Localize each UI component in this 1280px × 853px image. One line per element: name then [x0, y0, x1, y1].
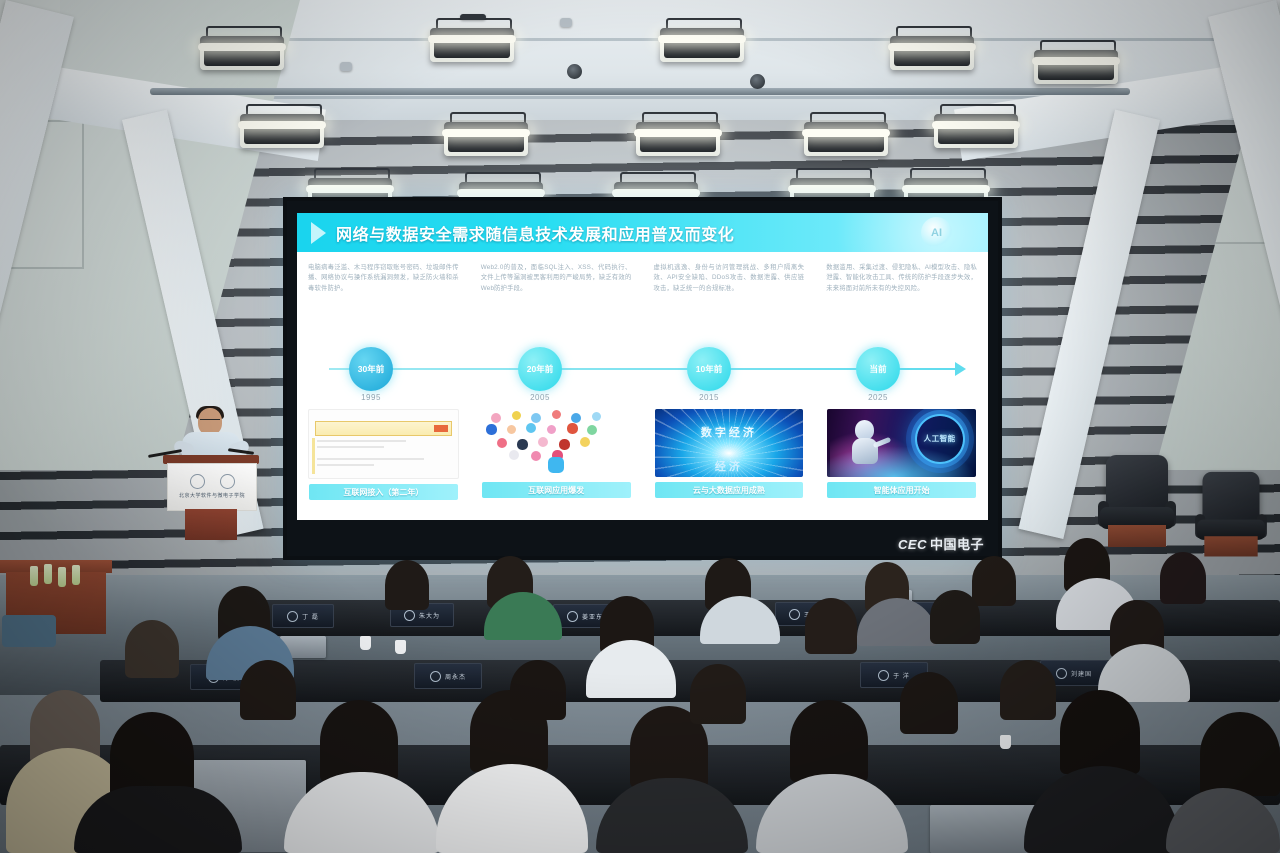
stage-light	[426, 18, 518, 64]
audience-member	[790, 700, 868, 782]
desk-nameplate: 周永杰	[414, 663, 482, 689]
nameplate-text: 朱大为	[419, 611, 440, 620]
nameplate-text: 刘建国	[1071, 669, 1092, 678]
emblem-icon	[1056, 668, 1067, 679]
timeline-node: 30年前	[349, 347, 393, 391]
timeline-year: 2015	[687, 393, 731, 402]
text-column: 虚拟机逃逸、身份与访问管理挑战、多租户隔离失效、API安全缺陷、DDoS攻击、数…	[643, 263, 816, 325]
audience-member	[385, 560, 429, 610]
era-panel: 人工智能 智能体应用开始	[815, 409, 988, 509]
emblem-icon	[404, 610, 415, 621]
thumb-title-top: 数字经济	[655, 424, 804, 440]
nameplate-text: 丁 磊	[302, 612, 319, 621]
thumbnail-old-webpage	[308, 409, 459, 479]
paper-cup	[1000, 735, 1011, 749]
thumbnail-app-icon-cloud	[482, 409, 631, 477]
text-column: 数据滥用、采集过渡、侵犯隐私、AI模型攻击、隐私泄露、智能化攻击工具、传统的防护…	[815, 263, 988, 325]
audience-member	[930, 590, 980, 644]
era-panel: 互联网应用爆发	[470, 409, 643, 509]
screen-surface: 网络与数据安全需求随信息技术发展和应用普及而变化 AI 电脑病毒泛滥、木马程序窃…	[287, 201, 998, 556]
audience-member	[1000, 660, 1056, 720]
water-bottle	[44, 564, 52, 584]
timeline-year: 1995	[349, 393, 393, 402]
slide-title: 网络与数据安全需求随信息技术发展和应用普及而变化	[336, 221, 734, 245]
panel-caption: 云与大数据应用成熟	[655, 482, 804, 498]
audience-member	[1060, 690, 1140, 774]
ceiling-camera-icon	[750, 74, 765, 89]
podium: 北京大学软件与微电子学院	[163, 455, 259, 540]
timeline-arrow-icon	[955, 362, 966, 376]
paper-cup	[395, 640, 406, 654]
stage-light	[632, 112, 724, 158]
audience-member	[1160, 552, 1206, 604]
paper-cup	[360, 636, 371, 650]
led-display-screen[interactable]: 网络与数据安全需求随信息技术发展和应用普及而变化 AI 电脑病毒泛滥、木马程序窃…	[283, 197, 1002, 560]
smoke-detector-icon	[340, 62, 352, 71]
podium-front-panel: 北京大学软件与微电子学院	[167, 463, 257, 511]
column-paragraph: 数据滥用、采集过渡、侵犯隐私、AI模型攻击、隐私泄露、智能化攻击工具、传统的防护…	[826, 263, 977, 294]
audience-member	[510, 660, 566, 720]
desk-nameplate: 丁 磊	[272, 604, 334, 628]
screenshot-root: 网络与数据安全需求随信息技术发展和应用普及而变化 AI 电脑病毒泛滥、木马程序窃…	[0, 0, 1280, 853]
emblem-icon	[789, 609, 800, 620]
column-paragraph: 虚拟机逃逸、身份与访问管理挑战、多租户隔离失效、API安全缺陷、DDoS攻击、数…	[654, 263, 805, 294]
timeline-node: 10年前	[687, 347, 731, 391]
play-triangle-icon	[311, 222, 326, 244]
stage-light	[236, 104, 328, 150]
timeline-node: 20年前	[518, 347, 562, 391]
panel-caption: 智能体应用开始	[827, 482, 976, 498]
smoke-detector-icon	[560, 18, 572, 27]
glasses-icon	[200, 419, 220, 424]
audience-member	[125, 620, 179, 678]
side-chair	[2, 615, 56, 647]
slide-title-bar: 网络与数据安全需求随信息技术发展和应用普及而变化 AI	[297, 213, 988, 252]
column-paragraph: 电脑病毒泛滥、木马程序窃取账号密码、垃圾邮件传播、网络协议与操作系统漏洞频发，缺…	[308, 263, 459, 294]
thumbnail-ai-robot: 人工智能	[827, 409, 976, 477]
audience-member	[805, 598, 857, 654]
stage-light	[930, 104, 1022, 150]
university-emblem-icon	[220, 474, 235, 489]
audience-member	[900, 672, 958, 734]
emblem-icon	[878, 670, 889, 681]
slide-text-columns: 电脑病毒泛滥、木马程序窃取账号密码、垃圾邮件传播、网络协议与操作系统漏洞频发，缺…	[297, 263, 988, 325]
ceiling-camera-icon	[567, 64, 582, 79]
audience-member	[690, 664, 746, 724]
timeline-node: 当前	[856, 347, 900, 391]
stage-light	[440, 112, 532, 158]
column-paragraph: Web2.0的普及，面临SQL注入、XSS、代码执行、文件上传等漏洞被黑客利用的…	[481, 263, 632, 294]
nameplate-text: 周永杰	[445, 672, 466, 681]
thumbnail-digital-economy: 数字经济 经济	[655, 409, 804, 477]
timeline: 30年前 20年前 10年前 当前 1995 2005 2015 2025	[297, 341, 988, 399]
stage-light	[800, 112, 892, 158]
water-bottle	[72, 565, 80, 585]
app-store-icon	[548, 457, 564, 473]
lighting-truss	[150, 88, 1130, 95]
stage-light	[656, 18, 748, 64]
era-panel: 数字经济 经济 云与大数据应用成熟	[643, 409, 816, 509]
cec-logo-en: CEC	[898, 537, 927, 552]
ai-badge-icon: AI	[921, 217, 952, 248]
ceiling-rail	[460, 14, 486, 20]
text-column: 电脑病毒泛滥、木马程序窃取账号密码、垃圾邮件传播、网络协议与操作系统漏洞频发，缺…	[297, 263, 470, 325]
audience-member	[240, 660, 296, 720]
stage-light	[196, 26, 288, 72]
university-emblem-icon	[190, 474, 205, 489]
audience-member	[1200, 712, 1280, 796]
stage-light	[886, 26, 978, 72]
water-bottle	[30, 566, 38, 586]
audience-member	[972, 556, 1016, 606]
emblem-icon	[567, 611, 578, 622]
text-column: Web2.0的普及，面临SQL注入、XSS、代码执行、文件上传等漏洞被黑客利用的…	[470, 263, 643, 325]
cec-logo-cn: 中国电子	[930, 537, 984, 552]
stage-light	[1030, 40, 1122, 86]
thumb-title-bottom: 经济	[655, 458, 804, 474]
nameplate-text: 于 洋	[893, 671, 910, 680]
era-panel: 互联网接入（第二年）	[297, 409, 470, 509]
presentation-slide: 网络与数据安全需求随信息技术发展和应用普及而变化 AI 电脑病毒泛滥、木马程序窃…	[297, 213, 988, 520]
stage-chair	[1197, 472, 1265, 560]
robot-icon	[851, 420, 881, 464]
stage-chair	[1100, 455, 1174, 551]
panel-caption: 互联网接入（第二年）	[309, 484, 458, 500]
podium-base	[185, 509, 237, 540]
audience-member	[320, 700, 398, 782]
water-bottle	[58, 567, 66, 587]
podium-organization-label: 北京大学软件与微电子学院	[168, 492, 256, 499]
emblem-icon	[287, 611, 298, 622]
panel-caption: 互联网应用爆发	[482, 482, 631, 498]
timeline-year: 2025	[856, 393, 900, 402]
thumb-title: 人工智能	[917, 416, 963, 462]
cec-logo: CEC中国电子	[898, 534, 984, 553]
timeline-year: 2005	[518, 393, 562, 402]
slide-panels: 互联网接入（第二年）	[297, 409, 988, 509]
emblem-icon	[430, 671, 441, 682]
